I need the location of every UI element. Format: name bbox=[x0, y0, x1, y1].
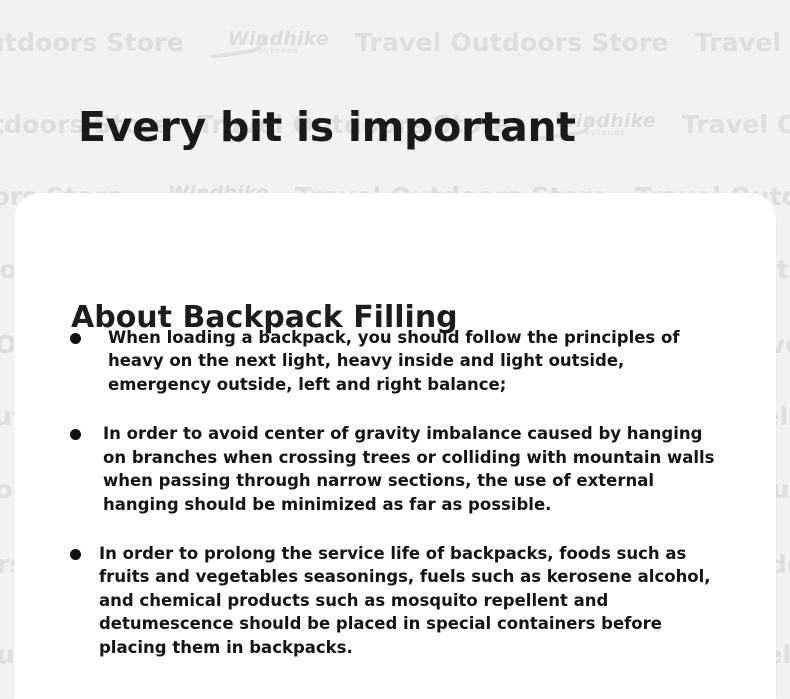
list-item: In order to avoid center of gravity imba… bbox=[70, 422, 746, 516]
watermark-text: Travel Outdoors Store bbox=[355, 28, 669, 57]
bullet-dot-icon bbox=[70, 429, 81, 440]
list-item-text: In order to prolong the service life of … bbox=[99, 542, 719, 659]
watermark-brand-sub: OUTDOOR bbox=[258, 49, 299, 55]
watermark-row: Travel Outdoors StoreWindhikeOUTDOORTrav… bbox=[0, 28, 790, 57]
list-item-text: When loading a backpack, you should foll… bbox=[108, 326, 706, 396]
watermark-text: Travel Outdoors Store bbox=[0, 28, 184, 57]
list-item-text: In order to avoid center of gravity imba… bbox=[103, 422, 728, 516]
bullet-dot-icon bbox=[70, 549, 81, 560]
watermark-brand-sub: OUTDOOR bbox=[585, 131, 626, 137]
watermark-brand: Windhike bbox=[228, 30, 329, 49]
list-item: When loading a backpack, you should foll… bbox=[70, 326, 746, 396]
watermark-text: Travel Outdoors Store bbox=[682, 110, 790, 139]
list-item: In order to prolong the service life of … bbox=[70, 542, 746, 659]
bullet-list: When loading a backpack, you should foll… bbox=[70, 326, 746, 685]
content-card: About Backpack Filling When loading a ba… bbox=[14, 193, 776, 699]
watermark-logo: WindhikeOUTDOOR bbox=[228, 30, 329, 55]
page-title: Every bit is important bbox=[78, 103, 576, 151]
watermark-text: Travel Outdoors Store bbox=[695, 28, 790, 57]
bullet-dot-icon bbox=[70, 333, 81, 344]
